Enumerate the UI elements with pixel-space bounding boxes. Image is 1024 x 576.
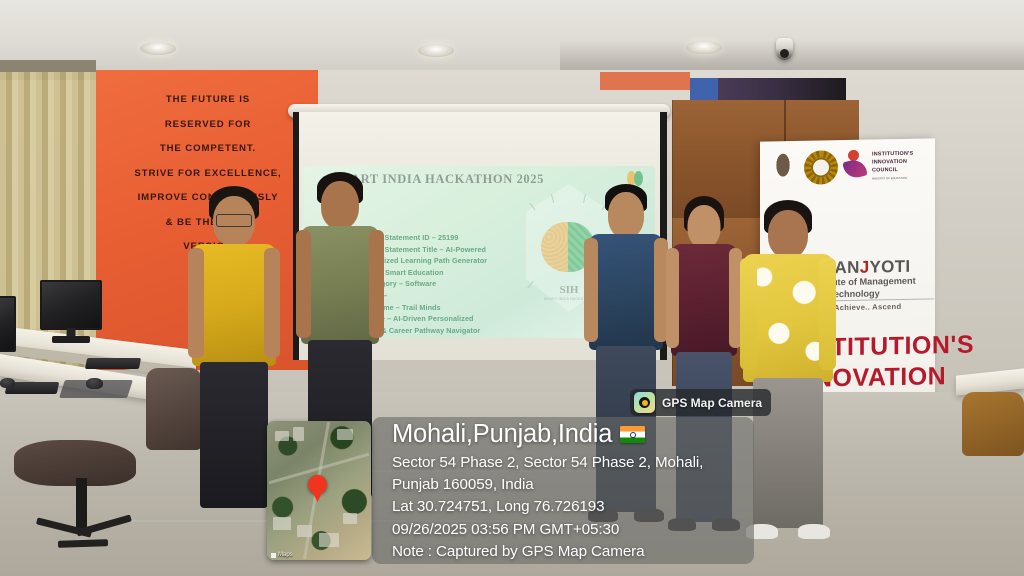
mouse-secondary — [0, 378, 15, 388]
gps-address-line-2: Punjab 160059, India — [392, 474, 748, 496]
head — [321, 181, 359, 229]
ceiling-light-icon — [418, 44, 454, 57]
torso-maroon-top — [671, 244, 737, 356]
quote-line: THE FUTURE IS — [100, 88, 316, 113]
wall-strip — [600, 72, 690, 90]
gps-detail-lines: Sector 54 Phase 2, Sector 54 Phase 2, Mo… — [392, 452, 748, 563]
cctv-camera-icon — [776, 38, 793, 60]
person-5 — [740, 200, 836, 550]
mouse — [86, 378, 103, 389]
arm-left — [296, 230, 311, 338]
gps-note: Note : Captured by GPS Map Camera — [392, 541, 748, 563]
arm-left — [666, 248, 679, 348]
iic-header-text: INSTITUTION'S INNOVATION COUNCIL MINISTR… — [872, 149, 932, 182]
chair-post — [76, 478, 87, 530]
legs — [200, 362, 268, 508]
side-chair — [962, 392, 1024, 456]
quote-line: RESERVED FOR — [100, 113, 316, 138]
screenshot-root: THE FUTURE IS RESERVED FOR THE COMPETENT… — [0, 0, 1024, 576]
gps-city-name: Mohali,Punjab,India — [392, 420, 612, 449]
iic-ministry-line: MINISTRY OF EDUCATION — [872, 173, 932, 182]
head — [608, 192, 644, 238]
gps-map-thumbnail: Maps — [267, 421, 371, 560]
glasses-icon — [216, 214, 252, 227]
gps-map-camera-badge: GPS Map Camera — [630, 389, 771, 416]
quote-line: STRIVE FOR EXCELLENCE, — [100, 162, 316, 187]
keyboard — [85, 358, 141, 369]
aicte-gear-logo-icon — [804, 150, 838, 185]
arm-left — [188, 248, 204, 358]
arm-left — [584, 238, 598, 342]
monitor — [40, 280, 102, 330]
monitor-screen — [0, 296, 16, 352]
map-location-pin-icon — [308, 475, 327, 494]
monitor-screen — [40, 280, 102, 330]
gps-address-line-1: Sector 54 Phase 2, Sector 54 Phase 2, Mo… — [392, 452, 748, 474]
ashoka-emblem-icon — [770, 153, 796, 187]
head — [688, 205, 721, 248]
gps-city-row: Mohali,Punjab,India — [392, 420, 645, 449]
iic-swoosh-icon — [844, 148, 870, 180]
monitor-base — [52, 336, 90, 343]
india-flag-icon — [620, 426, 645, 443]
ceiling-light-icon — [686, 41, 722, 54]
arm-left-sleeve — [740, 258, 757, 370]
arm-right — [264, 248, 280, 358]
institute-tagline: Achieve.. Ascend — [834, 301, 944, 312]
head — [768, 210, 808, 258]
gps-timestamp: 09/26/2025 03:56 PM GMT+05:30 — [392, 519, 748, 541]
arm-right — [369, 230, 384, 338]
map-watermark: Maps — [271, 552, 293, 558]
torso-navy-polo — [589, 234, 663, 350]
gps-coordinates: Lat 30.724751, Long 76.726193 — [392, 496, 748, 518]
monitor-secondary — [0, 296, 16, 352]
torso-olive-tshirt — [301, 226, 379, 344]
quote-line: THE COMPETENT. — [100, 137, 316, 162]
ceiling-light-icon — [140, 42, 176, 55]
gps-map-camera-app-icon — [634, 392, 655, 413]
arm-right-sleeve — [819, 258, 836, 370]
office-chair-seat — [14, 440, 136, 486]
map-watermark-label: Maps — [278, 552, 293, 558]
shoe — [798, 524, 830, 539]
gps-badge-label: GPS Map Camera — [662, 396, 762, 410]
